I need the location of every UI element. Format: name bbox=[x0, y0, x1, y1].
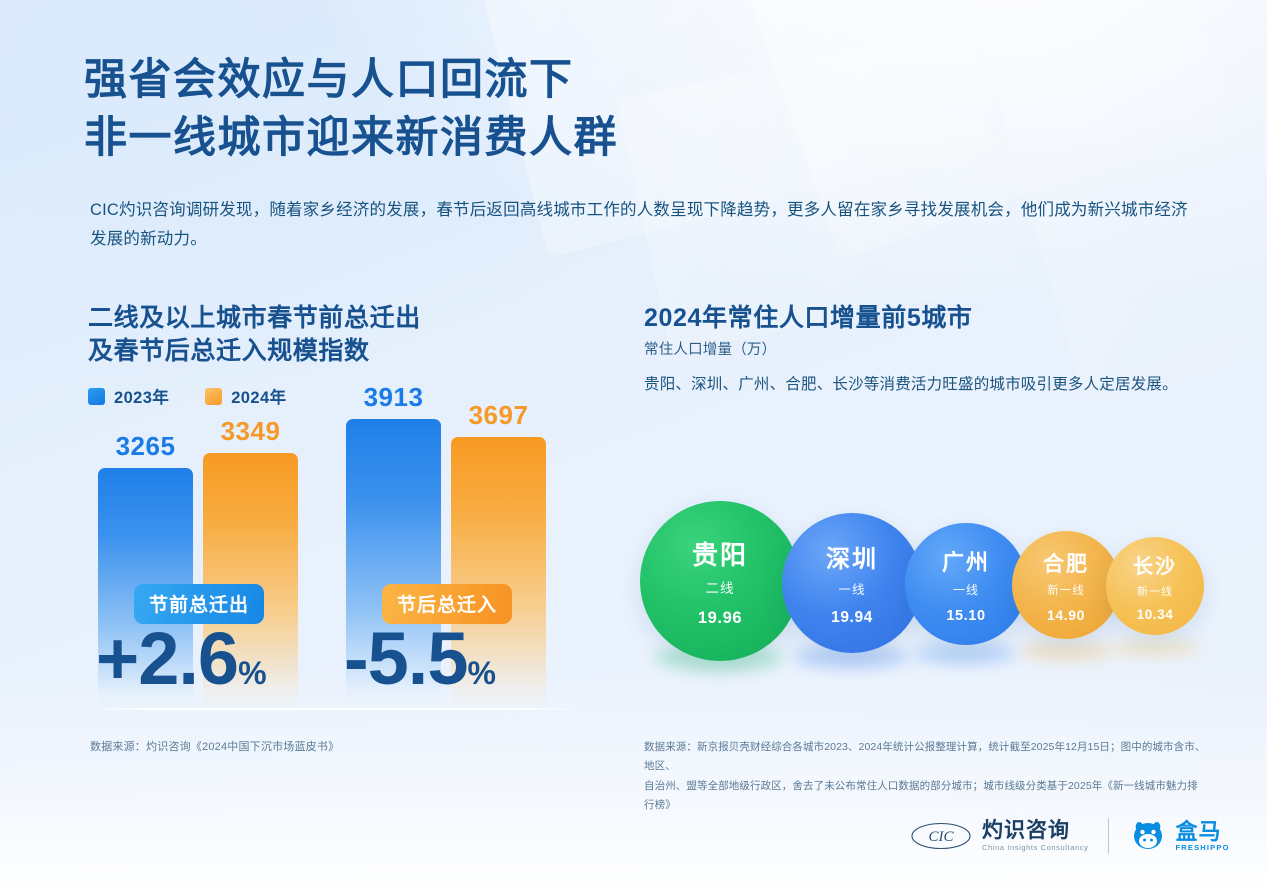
bubble-value-guangzhou: 15.10 bbox=[946, 608, 985, 624]
left-source-note: 数据来源：灼识咨询《2024中国下沉市场蓝皮书》 bbox=[90, 738, 339, 754]
bubble-value-shenzhen: 19.94 bbox=[831, 609, 873, 627]
pct-change-pre-festival: +2.6% bbox=[96, 622, 267, 696]
bubble-city-changsha: 长沙 bbox=[1133, 550, 1177, 579]
hema-name-cn: 盒马 bbox=[1175, 820, 1229, 843]
hippo-icon bbox=[1129, 819, 1167, 853]
bubble-city-guiyang: 贵阳 bbox=[692, 535, 748, 572]
cic-name-cn: 灼识咨询 bbox=[982, 820, 1088, 842]
bar-value-2024-g1: 3349 bbox=[203, 416, 298, 447]
bubble-guangzhou[interactable]: 广州 一线 15.10 bbox=[905, 523, 1027, 645]
bar-value-2024-g2: 3697 bbox=[451, 400, 546, 431]
page-title: 强省会效应与人口回流下 非一线城市迎来新消费人群 bbox=[84, 52, 618, 167]
bubble-reflection-changsha bbox=[1112, 639, 1200, 657]
right-source-line-2: 自治州、盟等全部地级行政区，舍去了未公布常住人口数据的部分城市；城市线级分类基于… bbox=[644, 777, 1206, 816]
bubble-city-guangzhou: 广州 bbox=[942, 545, 990, 577]
hema-wordmark: 盒马 FRESHIPPO bbox=[1175, 820, 1229, 852]
bubble-guiyang[interactable]: 贵阳 二线 19.96 bbox=[640, 501, 800, 661]
bubble-city-shenzhen: 深圳 bbox=[826, 539, 878, 574]
city-bubble-chart: 贵阳 二线 19.96 深圳 一线 19.94 广州 一线 15.10 合肥 新… bbox=[640, 495, 1210, 705]
cic-name-en: China Insights Consultancy bbox=[982, 843, 1088, 852]
bar-value-2023-g2: 3913 bbox=[346, 382, 441, 413]
migration-bar-chart: 3265 3349 节前总迁出 +2.6% 3913 3697 节后总迁入 -5… bbox=[88, 400, 588, 730]
cic-wordmark: 灼识咨询 China Insights Consultancy bbox=[982, 820, 1088, 851]
right-source-line-1: 数据来源：新京报贝壳财经综合各城市2023、2024年统计公报整理计算，统计截至… bbox=[644, 738, 1206, 777]
svg-text:CIC: CIC bbox=[928, 829, 954, 845]
right-section-title: 2024年常住人口增量前5城市 bbox=[644, 302, 1204, 335]
pct-change-post-festival: -5.5% bbox=[344, 622, 496, 696]
bubble-reflection-hefei bbox=[1018, 641, 1114, 661]
right-section: 2024年常住人口增量前5城市 常住人口增量（万） bbox=[644, 302, 1204, 359]
intro-paragraph: CIC灼识咨询调研发现，随着家乡经济的发展，春节后返回高线城市工作的人数呈现下降… bbox=[90, 196, 1203, 254]
right-section-desc: 贵阳、深圳、广州、合肥、长沙等消费活力旺盛的城市吸引更多人定居发展。 bbox=[644, 372, 1204, 394]
bubble-value-hefei: 14.90 bbox=[1047, 607, 1085, 623]
hema-name-en: FRESHIPPO bbox=[1175, 843, 1229, 852]
right-source-note: 数据来源：新京报贝壳财经综合各城市2023、2024年统计公报整理计算，统计截至… bbox=[644, 738, 1206, 816]
left-section: 二线及以上城市春节前总迁出 及春节后总迁入规模指数 2023年 2024年 bbox=[88, 302, 588, 408]
bubble-changsha[interactable]: 长沙 新一线 10.34 bbox=[1106, 537, 1204, 635]
pct-number-post-festival: -5.5 bbox=[344, 617, 468, 700]
bubble-tier-guiyang: 二线 bbox=[706, 577, 735, 597]
footer-divider bbox=[1108, 818, 1109, 854]
bubble-shenzhen[interactable]: 深圳 一线 19.94 bbox=[782, 513, 922, 653]
bar-value-2023-g1: 3265 bbox=[98, 431, 193, 462]
left-section-title: 二线及以上城市春节前总迁出 及春节后总迁入规模指数 bbox=[88, 302, 588, 368]
bubble-city-hefei: 合肥 bbox=[1043, 548, 1089, 578]
cic-logo: CIC 灼识咨询 China Insights Consultancy bbox=[910, 820, 1088, 851]
bubble-tier-changsha: 新一线 bbox=[1137, 583, 1173, 599]
hema-logo: 盒马 FRESHIPPO bbox=[1129, 819, 1229, 853]
chart-baseline bbox=[88, 708, 580, 710]
bubble-value-guiyang: 19.96 bbox=[698, 609, 742, 628]
bubble-tier-guangzhou: 一线 bbox=[953, 581, 979, 598]
bubble-reflection-guangzhou bbox=[912, 643, 1016, 665]
pct-symbol-post-festival: % bbox=[468, 655, 496, 691]
pct-symbol-pre-festival: % bbox=[238, 655, 266, 691]
footer-logos: CIC 灼识咨询 China Insights Consultancy 盒马 bbox=[910, 818, 1230, 854]
bubble-tier-hefei: 新一线 bbox=[1047, 582, 1085, 598]
pct-number-pre-festival: +2.6 bbox=[96, 617, 238, 700]
bubble-value-changsha: 10.34 bbox=[1137, 607, 1174, 622]
bubble-tier-shenzhen: 一线 bbox=[838, 579, 865, 598]
bubble-hefei[interactable]: 合肥 新一线 14.90 bbox=[1012, 531, 1120, 639]
cic-monogram-icon: CIC bbox=[910, 821, 972, 851]
infographic-page: 强省会效应与人口回流下 非一线城市迎来新消费人群 CIC灼识咨询调研发现，随着家… bbox=[0, 0, 1267, 894]
right-section-subtitle: 常住人口增量（万） bbox=[644, 338, 1204, 359]
